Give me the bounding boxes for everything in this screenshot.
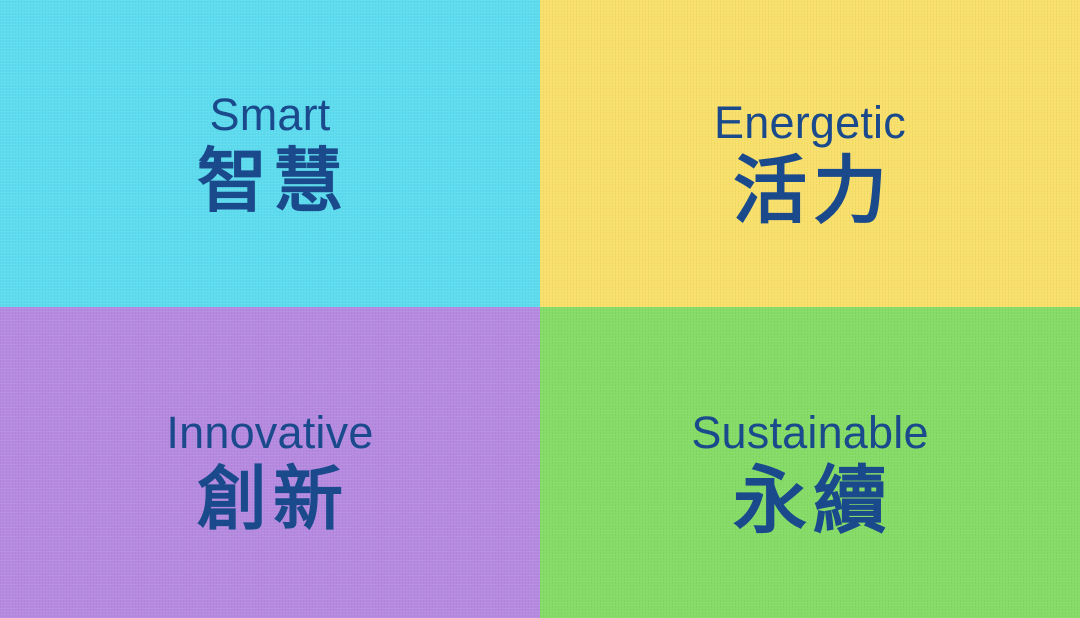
brand-values-grid: Smart 智慧 Energetic 活力 Innovative 創新 Sust… — [0, 0, 1080, 618]
quadrant-sustainable-english-label: Sustainable — [691, 410, 928, 455]
quadrant-energetic-chinese-label: 活力 — [727, 153, 893, 231]
quadrant-energetic: Energetic 活力 — [540, 0, 1080, 307]
quadrant-sustainable: Sustainable 永續 — [540, 307, 1080, 618]
quadrant-smart: Smart 智慧 — [0, 0, 540, 307]
quadrant-sustainable-chinese-label: 永續 — [727, 463, 893, 541]
quadrant-smart-english-label: Smart — [209, 92, 330, 137]
quadrant-smart-content: Smart 智慧 — [0, 92, 540, 219]
quadrant-innovative-content: Innovative 創新 — [0, 410, 540, 537]
quadrant-sustainable-content: Sustainable 永續 — [540, 410, 1080, 541]
quadrant-energetic-content: Energetic 活力 — [540, 96, 1080, 231]
quadrant-innovative: Innovative 創新 — [0, 307, 540, 618]
quadrant-energetic-english-label: Energetic — [714, 100, 906, 145]
quadrant-smart-chinese-label: 智慧 — [191, 145, 349, 219]
quadrant-innovative-chinese-label: 創新 — [191, 463, 349, 537]
quadrant-innovative-english-label: Innovative — [166, 410, 373, 455]
